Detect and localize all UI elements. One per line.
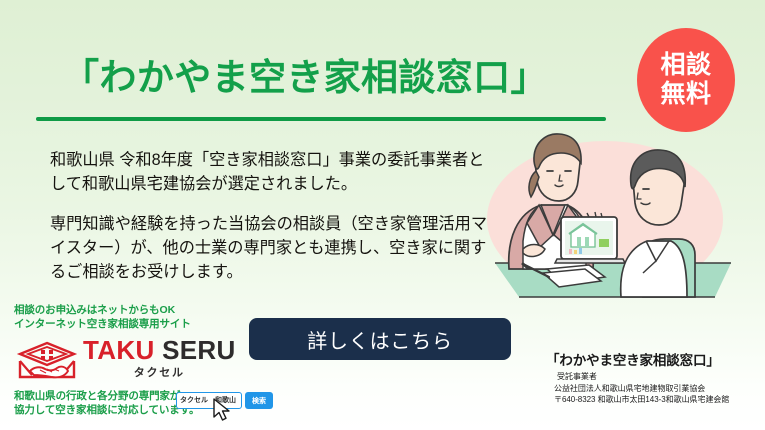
search-input[interactable]: タクセル 和歌山 [176,392,242,409]
takuseru-logo[interactable]: TAKU SERU タクセル [16,337,244,381]
title-divider [36,117,606,121]
takuseru-lead-line-2: インターネット空き家相談専用サイト [14,317,244,331]
contact-title: 「わかやま空き家相談窓口」 [546,353,759,369]
body-paragraph-2: 専門知識や経験を持った当協会の相談員（空き家管理活用マイスター）が、他の士業の専… [50,212,490,285]
consultation-banner: 「わかやま空き家相談窓口」 相談 無料 和歌山県 令和8年度「空き家相談窓口」事… [0,0,765,430]
takuseru-wordmark-wrap: TAKU SERU タクセル [83,337,236,381]
contact-organization: 公益社団法人和歌山県宅地建物取引業協会 [554,383,759,394]
takuseru-kana: タクセル [83,364,236,380]
house-handshake-icon [16,341,78,381]
badge-line-2: 無料 [660,80,711,110]
contact-role: 受託事業者 [557,371,759,382]
consultation-illustration [483,131,763,303]
wordmark-taku: TAKU [83,335,155,365]
body-copy: 和歌山県 令和8年度「空き家相談窓口」事業の委託事業者として和歌山県宅建協会が選… [50,148,490,284]
search-widget[interactable]: タクセル 和歌山 検索 [176,392,273,409]
search-button[interactable]: 検索 [245,392,273,409]
page-title: 「わかやま空き家相談窓口」 [0,58,610,99]
badge-line-1: 相談 [660,51,711,81]
status-badge: 相談 無料 [637,28,735,132]
contact-block: 「わかやま空き家相談窓口」 受託事業者 公益社団法人和歌山県宅地建物取引業協会 … [544,353,759,405]
takuseru-wordmark: TAKU SERU [83,337,236,363]
takuseru-lead-line-1: 相談のお申込みはネットからもOK [14,303,244,317]
contact-details: 受託事業者 公益社団法人和歌山県宅地建物取引業協会 〒640-8323 和歌山市… [554,371,759,405]
wordmark-seru: SERU [162,335,235,365]
contact-address: 〒640-8323 和歌山市太田143-3和歌山県宅建会館 [554,394,759,405]
details-button[interactable]: 詳しくはこちら [249,318,511,360]
body-paragraph-1: 和歌山県 令和8年度「空き家相談窓口」事業の委託事業者として和歌山県宅建協会が選… [50,148,490,197]
takuseru-lead: 相談のお申込みはネットからもOK インターネット空き家相談専用サイト [14,303,244,332]
